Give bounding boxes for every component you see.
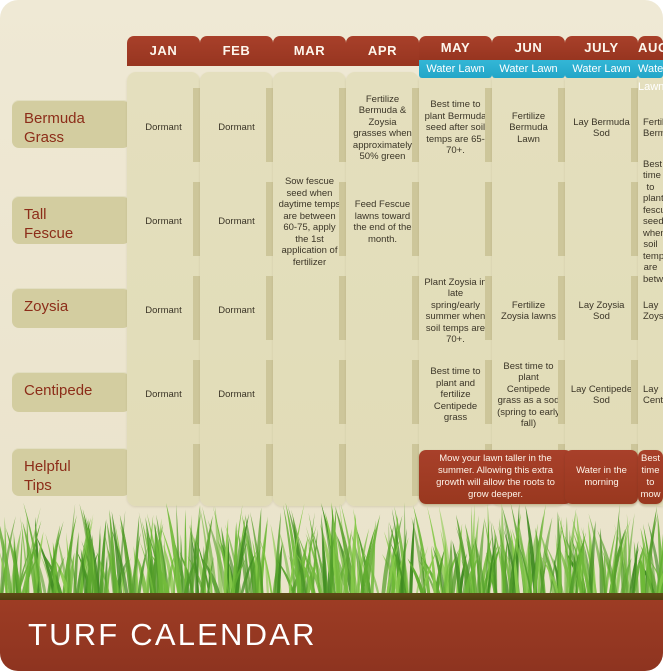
column-gutter	[485, 88, 492, 162]
column-gutter	[412, 444, 419, 496]
cell-centipede-may: Best time to plant and fertilize Centipe…	[419, 356, 492, 434]
cell-bermuda-may: Best time to plant Bermuda seed after so…	[419, 84, 492, 172]
row-label-line2: Grass	[24, 128, 130, 147]
row-label-centipede: Centipede	[12, 372, 130, 412]
row-label-tall: TallFescue	[12, 196, 130, 244]
cell-zoysia-aug: Lay Zoysia	[638, 272, 663, 350]
cell-zoysia-may: Plant Zoysia in late spring/early summer…	[419, 272, 492, 350]
month-header-jan[interactable]: JAN	[127, 36, 200, 66]
cell-bermuda-jan: Dormant	[127, 84, 200, 172]
water-lawn-badge-may: Water Lawn	[419, 60, 492, 78]
column-gutter	[266, 444, 273, 496]
month-header-mar[interactable]: MAR	[273, 36, 346, 66]
column-gutter	[339, 276, 346, 340]
month-header-aug[interactable]: AUG	[638, 36, 663, 60]
column-gutter	[339, 444, 346, 496]
column-gutter	[558, 360, 565, 424]
row-label-line1: Centipede	[24, 381, 130, 400]
calendar-grid: BermudaGrassTallFescueZoysiaCentipedeHel…	[0, 0, 663, 514]
month-header-jun[interactable]: JUN	[492, 36, 565, 60]
column-gutter	[193, 360, 200, 424]
column-gutter	[558, 182, 565, 256]
cell-centipede-feb: Dormant	[200, 356, 273, 434]
cell-centipede-july: Lay Centipede Sod	[565, 356, 638, 434]
row-label-line2: Fescue	[24, 224, 130, 243]
column-gutter	[631, 182, 638, 256]
cell-fescue-apr: Feed Fescue lawns toward the end of the …	[346, 178, 419, 266]
cell-bermuda-feb: Dormant	[200, 84, 273, 172]
month-header-feb[interactable]: FEB	[200, 36, 273, 66]
helpful-tip-may: Mow your lawn taller in the summer. Allo…	[419, 450, 572, 504]
column-gutter	[485, 182, 492, 256]
column-gutter	[412, 88, 419, 162]
column-gutter	[485, 360, 492, 424]
column-gutter	[193, 276, 200, 340]
row-label-helpful: HelpfulTips	[12, 448, 130, 496]
footer-bar: TURF CALENDAR	[0, 600, 663, 671]
column-gutter	[631, 276, 638, 340]
row-label-bermuda: BermudaGrass	[12, 100, 130, 148]
cell-centipede-jan: Dormant	[127, 356, 200, 434]
column-gutter	[558, 88, 565, 162]
cell-fescue-mar: Sow fescue seed when daytime temps are b…	[273, 178, 346, 266]
column-gutter	[266, 182, 273, 256]
cell-bermuda-apr: Fertilize Bermuda & Zoysia grasses when …	[346, 84, 419, 172]
month-header-july[interactable]: JULY	[565, 36, 638, 60]
row-label-line1: Bermuda	[24, 109, 130, 128]
column-gutter	[631, 360, 638, 424]
cell-zoysia-july: Lay Zoysia Sod	[565, 272, 638, 350]
row-label-line1: Tall	[24, 205, 130, 224]
column-gutter	[193, 88, 200, 162]
cell-bermuda-jun: Fertilize Bermuda Lawn	[492, 84, 565, 172]
column-gutter	[193, 182, 200, 256]
column-gutter	[412, 276, 419, 340]
grass-blades-icon	[0, 498, 663, 602]
month-header-may[interactable]: MAY	[419, 36, 492, 60]
helpful-tip-aug: Best time to mow	[638, 450, 663, 504]
column-gutter	[266, 88, 273, 162]
month-header-apr[interactable]: APR	[346, 36, 419, 66]
helpful-tip-july: Water in the morning	[565, 450, 638, 504]
month-column-mar	[273, 72, 346, 506]
grass-illustration	[0, 498, 663, 602]
column-gutter	[266, 360, 273, 424]
column-gutter	[266, 276, 273, 340]
column-gutter	[339, 182, 346, 256]
row-label-zoysia: Zoysia	[12, 288, 130, 328]
water-lawn-badge-july: Water Lawn	[565, 60, 638, 78]
column-gutter	[558, 276, 565, 340]
column-gutter	[631, 88, 638, 162]
row-label-line1: Zoysia	[24, 297, 130, 316]
cell-fescue-aug: Best time to plant fescue seed when soil…	[638, 178, 663, 266]
turf-calendar-page: BermudaGrassTallFescueZoysiaCentipedeHel…	[0, 0, 663, 671]
cell-centipede-jun: Best time to plant Centipede grass as a …	[492, 356, 565, 434]
page-title: TURF CALENDAR	[28, 617, 317, 653]
column-gutter	[412, 182, 419, 256]
cell-fescue-feb: Dormant	[200, 178, 273, 266]
cell-zoysia-feb: Dormant	[200, 272, 273, 350]
cell-zoysia-jun: Fertilize Zoysia lawns	[492, 272, 565, 350]
column-gutter	[485, 276, 492, 340]
row-label-line2: Tips	[24, 476, 130, 495]
column-gutter	[339, 88, 346, 162]
cell-bermuda-july: Lay Bermuda Sod	[565, 84, 638, 172]
row-label-column: BermudaGrassTallFescueZoysiaCentipedeHel…	[0, 36, 112, 506]
column-gutter	[339, 360, 346, 424]
cell-centipede-aug: Lay Centipede	[638, 356, 663, 434]
row-label-line1: Helpful	[24, 457, 130, 476]
water-lawn-badge-aug: Water Lawn	[638, 60, 663, 78]
cell-zoysia-jan: Dormant	[127, 272, 200, 350]
column-gutter	[193, 444, 200, 496]
cell-fescue-jan: Dormant	[127, 178, 200, 266]
column-gutter	[412, 360, 419, 424]
water-lawn-badge-jun: Water Lawn	[492, 60, 565, 78]
